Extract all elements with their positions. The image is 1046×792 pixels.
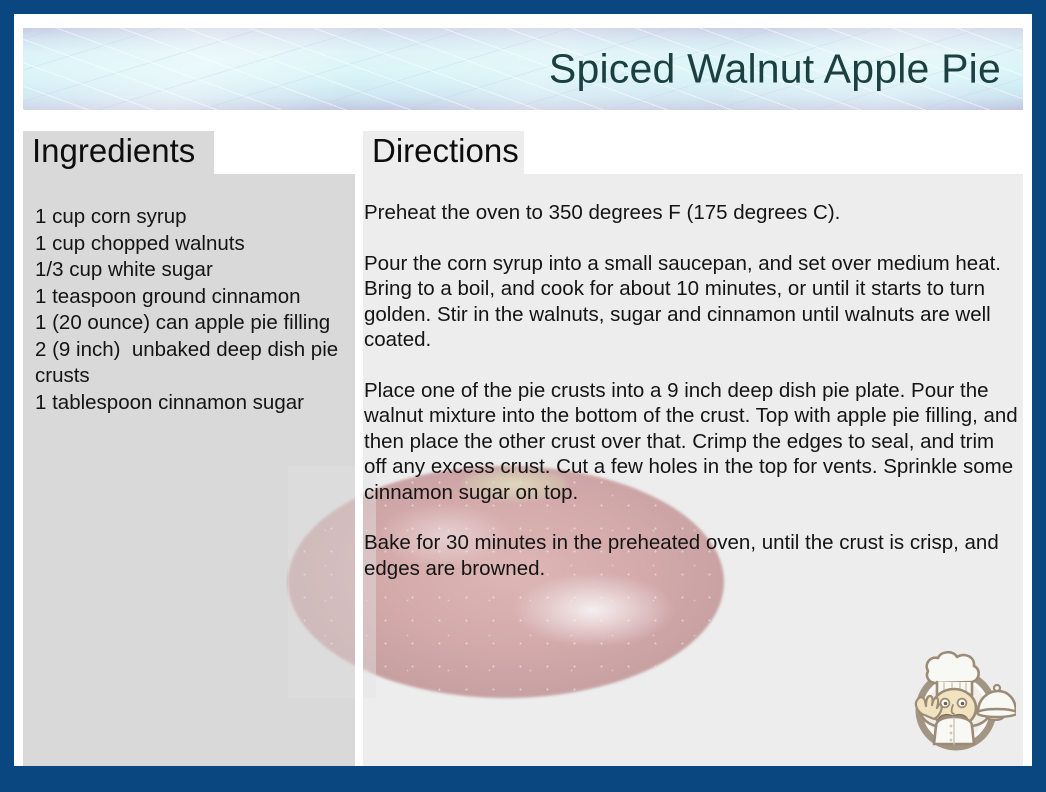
direction-step: Bake for 30 minutes in the preheated ove… [364, 530, 1020, 581]
title-banner: Spiced Walnut Apple Pie [23, 28, 1023, 110]
direction-step: Place one of the pie crusts into a 9 inc… [364, 378, 1020, 506]
page-title: Spiced Walnut Apple Pie [549, 46, 1001, 93]
ingredients-heading-box: Ingredients [23, 131, 214, 174]
ingredients-panel: 1 cup corn syrup1 cup chopped walnuts1/3… [23, 174, 355, 766]
directions-heading-box: Directions [363, 131, 524, 174]
directions-steps: Preheat the oven to 350 degrees F (175 d… [364, 200, 1020, 581]
ingredient-item: 2 (9 inch) unbaked deep dish pie crusts [35, 337, 347, 390]
ingredients-list: 1 cup corn syrup1 cup chopped walnuts1/3… [35, 204, 347, 416]
recipe-slide: Spiced Walnut Apple Pie Ingredients 1 cu… [0, 0, 1046, 792]
chef-mascot-logo [896, 640, 1016, 756]
ingredients-heading: Ingredients [32, 132, 195, 170]
column-gutter [355, 174, 363, 766]
directions-heading: Directions [372, 132, 519, 170]
direction-step: Pour the corn syrup into a small saucepa… [364, 251, 1020, 353]
ingredient-item: 1/3 cup white sugar [35, 257, 347, 284]
ingredient-item: 1 cup chopped walnuts [35, 231, 347, 258]
slide-page: Spiced Walnut Apple Pie Ingredients 1 cu… [14, 14, 1032, 766]
direction-step: Preheat the oven to 350 degrees F (175 d… [364, 200, 1020, 226]
ingredient-item: 1 tablespoon cinnamon sugar [35, 390, 347, 417]
ingredient-item: 1 teaspoon ground cinnamon [35, 284, 347, 311]
ingredient-item: 1 (20 ounce) can apple pie filling [35, 310, 347, 337]
ingredient-item: 1 cup corn syrup [35, 204, 347, 231]
